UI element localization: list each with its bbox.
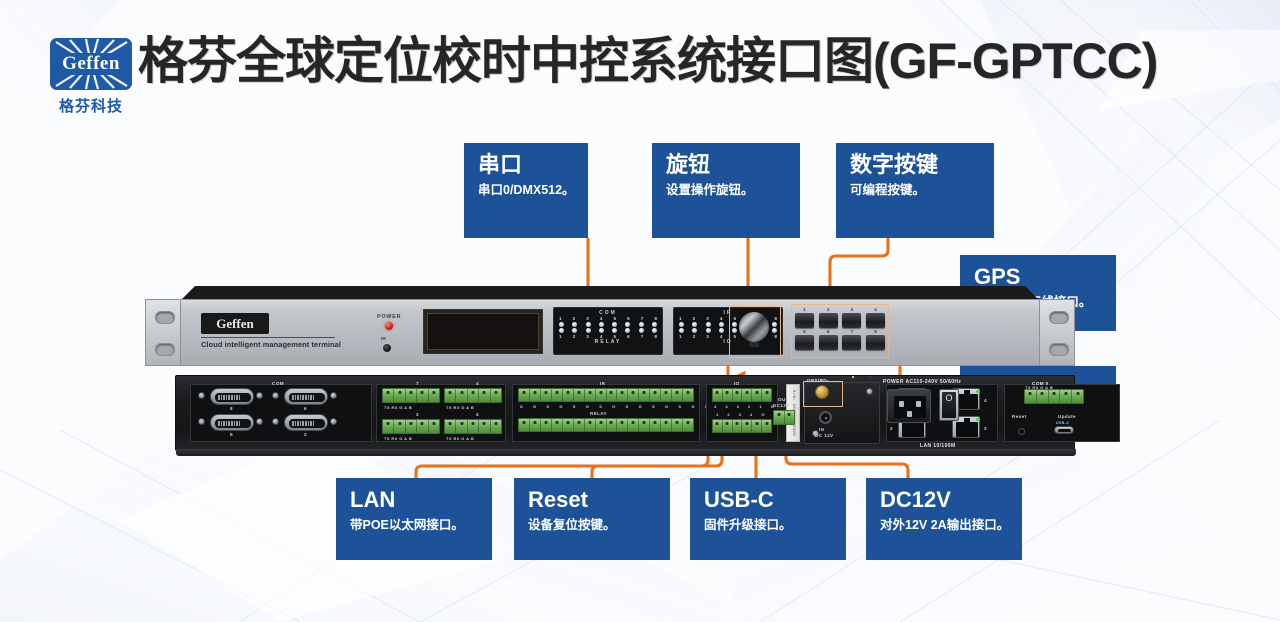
keypad-row: 1 2 3 4 [795,308,885,328]
led-num: 3 [586,334,589,339]
led-num: 6 [627,334,630,339]
key-cap [866,313,885,328]
db9-port-2[interactable] [284,414,328,431]
rack-ear-left [145,299,181,366]
callout-title: USB-C [704,488,834,511]
led-num: 1 [559,316,562,321]
ir-label: IR [381,337,386,342]
com-group-label-3: 3 [416,412,419,417]
screw-icon [272,418,279,425]
callout-lan[interactable]: LAN 带POE以太网接口。 [336,478,492,560]
serial-number-text: S/N: 2022BA000320 [791,390,795,436]
db9-port-5[interactable] [210,414,254,431]
reset-button[interactable] [1018,428,1025,435]
screw-icon [330,392,337,399]
callout-desc: 带POE以太网接口。 [350,517,480,533]
keypad-key-1[interactable]: 1 [795,308,814,328]
callout-title: 串口 [478,153,576,176]
callout-dc12v[interactable]: DC12V 对外12V 2A输出接口。 [866,478,1022,560]
device-front-panel: Geffen Cloud intelligent management term… [145,286,1075,366]
screw-icon [812,430,819,437]
keypad-key-6[interactable]: 6 [819,330,838,350]
led-num: 6 [627,316,630,321]
led-num: 1 [559,334,562,339]
numeric-keypad: 1 2 3 4 5 [791,304,889,358]
keypad-key-2[interactable]: 2 [819,308,838,328]
key-cap [795,335,814,350]
screw-icon [198,418,205,425]
callout-desc: 固件升级接口。 [704,517,834,533]
front-logo-badge: Geffen [201,313,269,334]
callout-serial[interactable]: 串口 串口0/DMX512。 [464,143,588,238]
led-num: 7 [641,316,644,321]
callout-title: 数字按键 [850,153,982,176]
keypad-key-7[interactable]: 7 [842,330,861,350]
front-tagline: Cloud intelligent management terminal [201,337,335,349]
rear-io-label: IO [734,381,740,386]
lcd-glass [427,313,539,350]
screw-icon [272,392,279,399]
lan-num-3: 3 [984,426,987,431]
callout-usbc[interactable]: USB-C 固件升级接口。 [690,478,846,560]
callout-knob[interactable]: 旋钮 设置操作旋钮。 [652,143,800,238]
callout-title: DC12V [880,488,1010,511]
io-terminal-bottom[interactable] [712,419,772,433]
led-num: 1 [679,316,682,321]
spacer [870,376,872,378]
screw-icon [330,418,337,425]
com-pin-label: TX RX G A B [384,436,412,441]
lan-num-2: 2 [890,426,893,431]
led-num: 4 [720,334,723,339]
callout-title: LAN [350,488,480,511]
screw-icon [198,392,205,399]
ir-pin-labels: S G S G S G S G S G S G S G S G [520,404,726,409]
led-block-bottom-label: RELAY [559,339,657,345]
led-num: 2 [573,316,576,321]
led-num: 2 [693,334,696,339]
front-top-bevel [181,286,1039,300]
led-num: 2 [693,316,696,321]
callout-desc: 可编程按键。 [850,182,982,198]
led-num: 2 [573,334,576,339]
key-cap [842,335,861,350]
led-num: 8 [654,334,657,339]
update-label: Update [1058,414,1076,419]
lan-port-2[interactable] [898,416,926,438]
front-logo-wordmark: Geffen [201,313,269,334]
led-num: 3 [706,316,709,321]
screw-icon [866,388,873,395]
front-brand-logo: Geffen Cloud intelligent management term… [201,313,321,349]
callout-title: 旋钮 [666,153,788,176]
key-cap [866,335,885,350]
serial-number-label: S/N: 2022BA000320 [786,384,800,442]
callout-desc: 设置操作旋钮。 [666,182,788,198]
logo-badge: Geffen [50,38,132,90]
com-pin-label: TX RX G A B [446,436,474,441]
io-terminal-top[interactable] [712,388,772,402]
key-cap [842,313,861,328]
callout-title: Reset [528,488,658,511]
callout-desc: 设备复位按键。 [528,517,658,533]
usbc-port[interactable] [1054,426,1074,434]
rack-hole-icon [155,311,175,324]
com-pin-label: TX RX G A B [446,405,474,410]
lan-port-3[interactable] [952,416,980,438]
led-num: 5 [614,316,617,321]
logo-wordmark: Geffen [62,53,120,75]
screw-icon [256,392,263,399]
lan-num-1: 1 [890,398,893,403]
power-led-icon [385,322,393,330]
rear-com-label: COM [272,381,284,386]
callout-reset[interactable]: Reset 设备复位按键。 [514,478,670,560]
io-pin-labels-top: 4 4 3 2 1 G [714,404,778,409]
com-pin-label: TX RX G A B [384,405,412,410]
rear-relay-label: RELAY [590,411,607,416]
rack-hole-icon [155,343,175,356]
lan-section-label: LAN 10/100M [920,443,956,449]
com-terminal-3[interactable] [382,419,440,434]
usbc-label: USB-C [1056,421,1069,425]
io-pin-labels-bottom: 1 2 3 4 G [716,412,768,417]
db9-label-5: 5 [230,432,233,437]
com0-pin-label: TX RX G A B [1025,385,1053,390]
led-num: 7 [641,334,644,339]
logo-chinese-name: 格芬科技 [50,95,132,116]
ir-receiver-icon [383,344,391,352]
keypad-key-5[interactable]: 5 [795,330,814,350]
key-cap [819,313,838,328]
led-num: 3 [586,316,589,321]
ir-terminal-strip[interactable] [518,388,694,402]
key-cap [819,335,838,350]
com-terminal-4[interactable] [444,388,502,403]
callout-desc: 串口0/DMX512。 [478,182,576,198]
db9-label-8: 8 [230,406,233,411]
lan-num-4: 4 [984,398,987,403]
power-label: POWER [377,314,401,320]
knob-stem [749,342,759,347]
db9-label-6: 6 [304,406,307,411]
relay-terminal-strip[interactable] [518,418,694,432]
rotary-knob[interactable] [739,312,769,342]
key-cap [795,313,814,328]
led-num: 1 [679,334,682,339]
rack-hole-icon [1049,343,1069,356]
keypad-key-8[interactable]: 8 [866,330,885,350]
led-block-com-relay: COM 1 2 3 4 5 6 7 8 1 2 3 4 5 [553,307,663,355]
led-row [559,328,657,333]
page-title: 格芬全球定位校时中控系统接口图(GF-GPTCC) [138,36,1157,86]
rear-bottom-shadow [176,449,1076,456]
unused-box [852,376,854,378]
device-rear-panel: COM 8 6 5 2 7 4 TX RX G A B TX RX G [175,375,1075,451]
led-row [559,322,657,327]
company-logo: Geffen 格芬科技 [50,38,132,120]
lan-port-4[interactable] [952,388,980,410]
db9-label-2: 2 [304,432,307,437]
led-num: 4 [720,316,723,321]
rack-ear-right [1039,299,1075,366]
led-num: 4 [600,316,603,321]
db9-port-6[interactable] [284,388,328,405]
com0-terminal[interactable] [1024,389,1084,404]
db9-port-8[interactable] [210,388,254,405]
screw-icon [256,418,263,425]
keypad-row: 5 6 7 8 [795,330,885,350]
rack-hole-icon [1049,311,1069,324]
keypad-key-3[interactable]: 3 [842,308,861,328]
com-terminal-4b[interactable] [444,419,502,434]
com-group-label-4: 4 [476,381,479,386]
com-group-label-7: 7 [416,381,419,386]
keypad-key-4[interactable]: 4 [866,308,885,328]
callout-desc: 对外12V 2A输出接口。 [880,517,1010,533]
com-terminal-7[interactable] [382,388,440,403]
led-num: 3 [706,334,709,339]
lan-port-1[interactable] [898,388,926,410]
lcd-display [423,309,543,354]
page-header: Geffen 格芬科技 格芬全球定位校时中控系统接口图(GF-GPTCC) [0,0,1280,130]
led-num: 8 [654,316,657,321]
rear-ir-label: IR [600,381,605,386]
callout-keypad[interactable]: 数字按键 可编程按键。 [836,143,994,238]
com-group-label-4b: 4 [476,412,479,417]
reset-label: Reset [1012,414,1027,419]
led-numbers-top: 1 2 3 4 5 6 7 8 [559,316,657,321]
device-illustration: Geffen Cloud intelligent management term… [145,272,1095,467]
